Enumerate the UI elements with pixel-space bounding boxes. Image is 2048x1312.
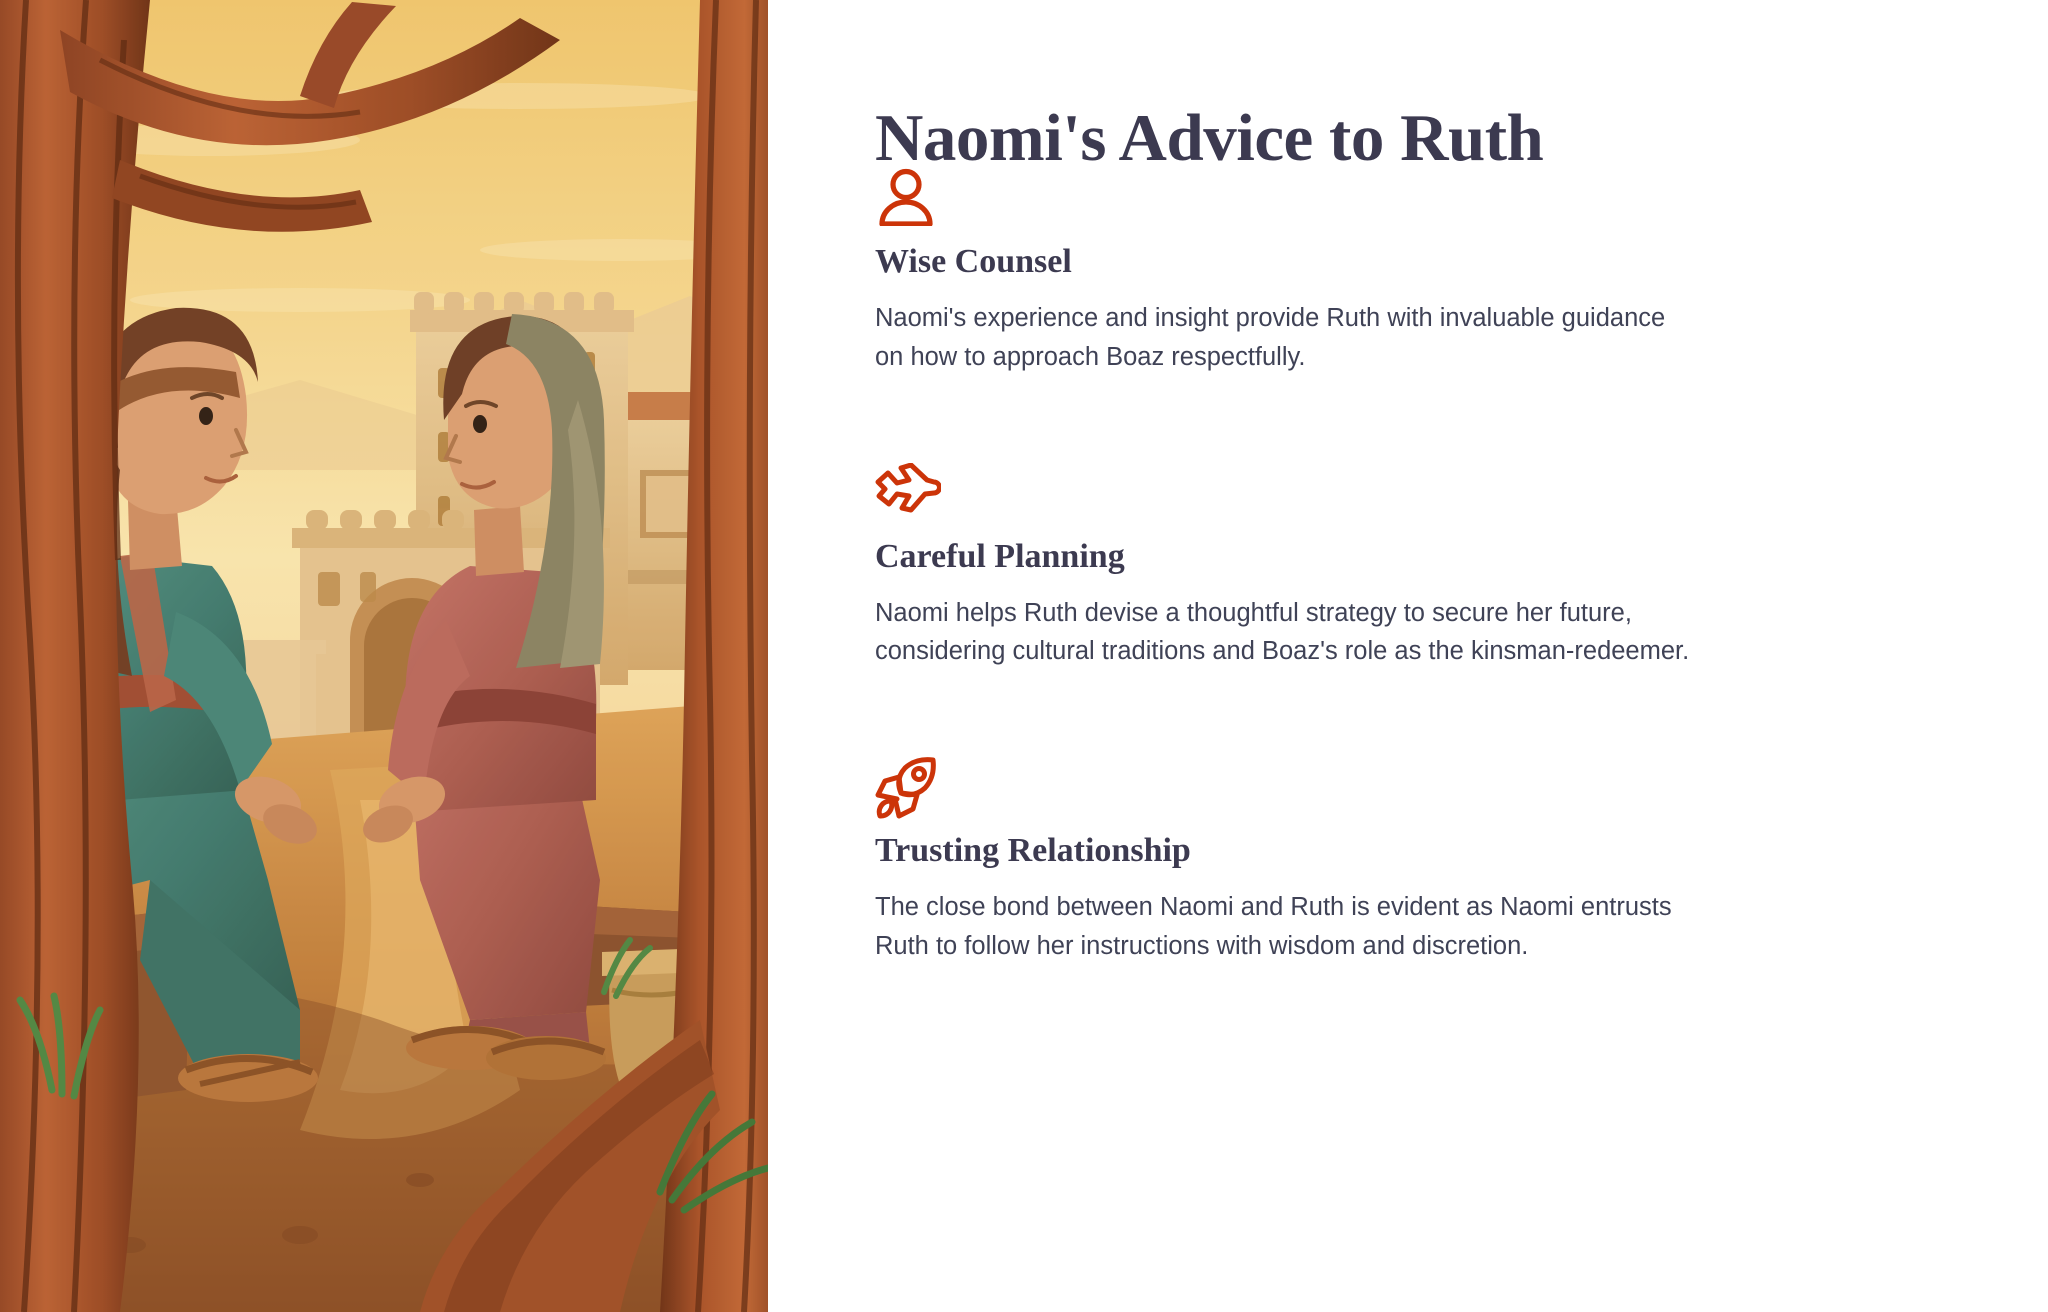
page-title: Naomi's Advice to Ruth xyxy=(875,105,1543,172)
section-title: Careful Planning xyxy=(875,537,1705,576)
section-title: Trusting Relationship xyxy=(875,831,1705,870)
section-body: Naomi's experience and insight provide R… xyxy=(875,299,1695,377)
section-title: Wise Counsel xyxy=(875,242,1705,281)
section-spacer xyxy=(875,377,1705,463)
section-wise-counsel: Wise Counsel Naomi's experience and insi… xyxy=(875,168,1705,377)
airplane-icon xyxy=(875,463,1705,525)
scene-illustration xyxy=(0,0,768,1312)
section-body: The close bond between Naomi and Ruth is… xyxy=(875,888,1695,966)
person-icon xyxy=(875,168,1705,230)
content-panel: Naomi's Advice to Ruth Wise Counsel Naom… xyxy=(768,0,2048,1312)
section-spacer xyxy=(875,671,1705,757)
sections-list: Wise Counsel Naomi's experience and insi… xyxy=(875,168,1705,966)
section-body: Naomi helps Ruth devise a thoughtful str… xyxy=(875,594,1695,672)
slide-root: Naomi's Advice to Ruth Wise Counsel Naom… xyxy=(0,0,2048,1312)
illustration-panel xyxy=(0,0,768,1312)
section-trusting-relationship: Trusting Relationship The close bond bet… xyxy=(875,757,1705,966)
section-careful-planning: Careful Planning Naomi helps Ruth devise… xyxy=(875,463,1705,672)
rocket-icon xyxy=(875,757,1705,819)
